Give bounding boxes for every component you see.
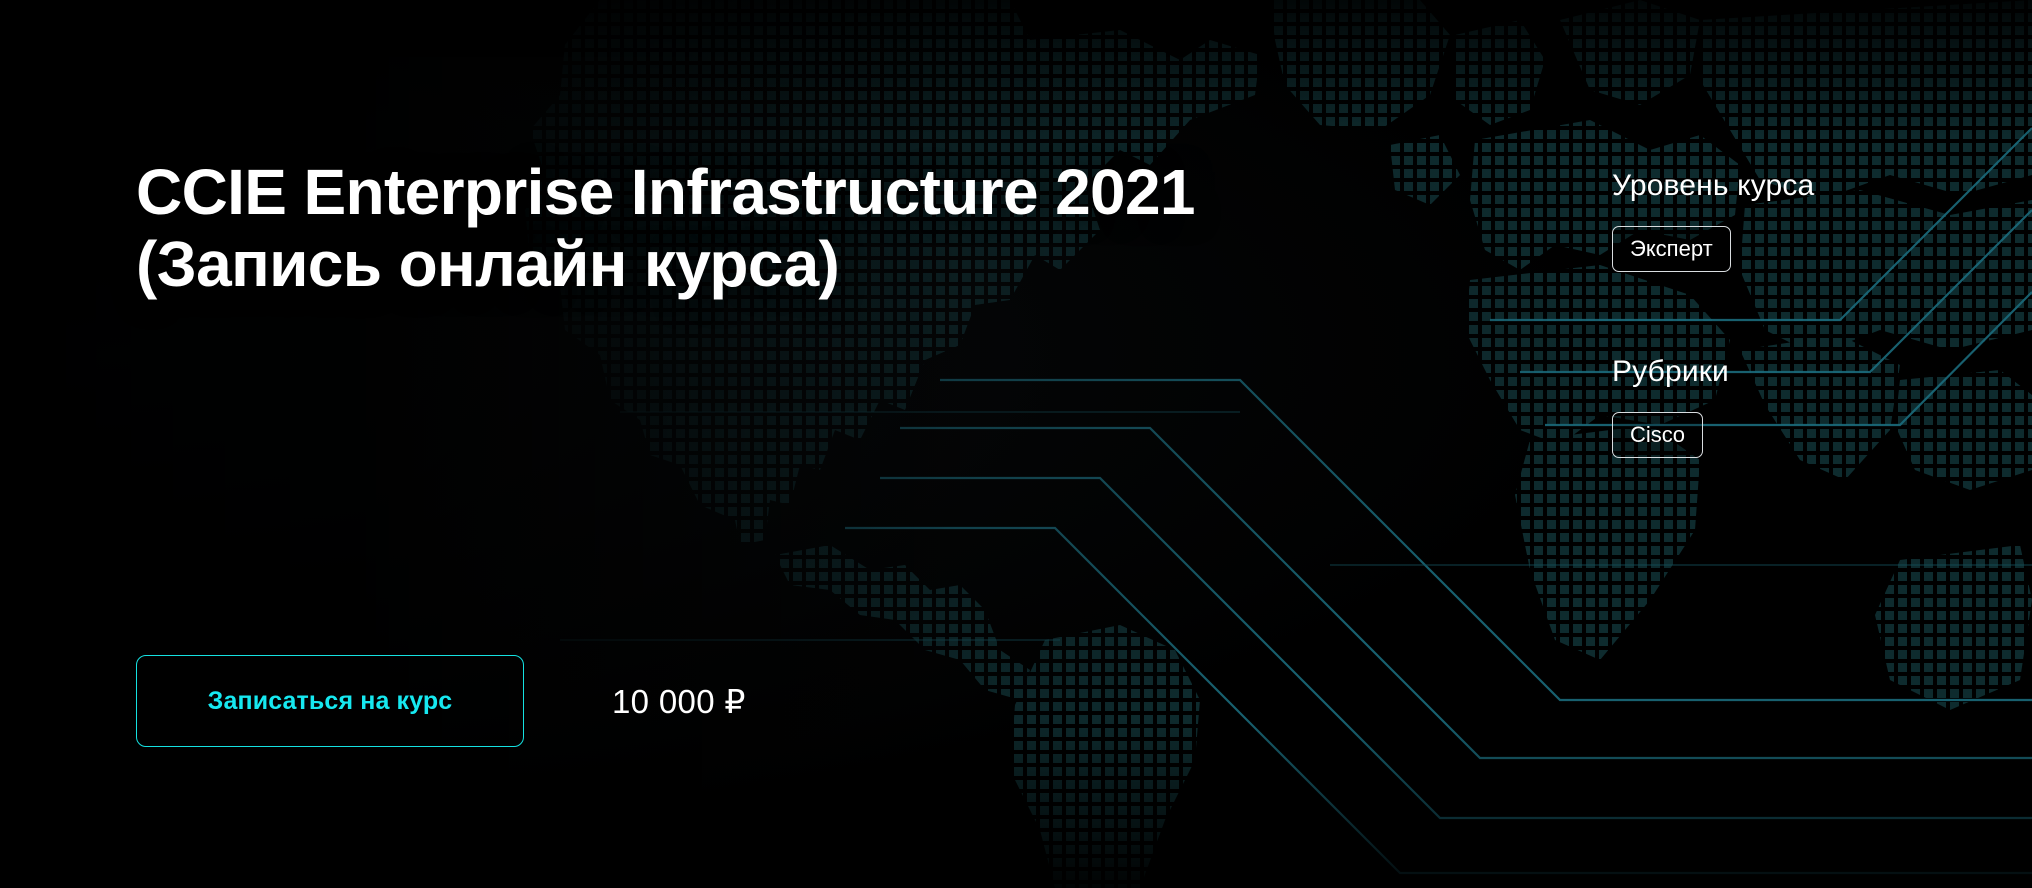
meta-group-categories: Рубрики Cisco xyxy=(1612,354,1972,458)
enroll-button[interactable]: Записаться на курс xyxy=(136,655,524,747)
meta-title-course-level: Уровень курса xyxy=(1612,168,1972,204)
hero-content: CCIE Enterprise Infrastructure 2021 (Зап… xyxy=(0,0,2032,888)
course-meta-column: Уровень курса Эксперт Рубрики Cisco xyxy=(1612,168,1972,458)
page-title: CCIE Enterprise Infrastructure 2021 (Зап… xyxy=(136,156,1316,301)
chip-row-course-level: Эксперт xyxy=(1612,226,1972,272)
chip-row-categories: Cisco xyxy=(1612,412,1972,458)
course-price: 10 000 ₽ xyxy=(612,682,746,721)
course-hero-banner: CCIE Enterprise Infrastructure 2021 (Зап… xyxy=(0,0,2032,888)
cta-row: Записаться на курс 10 000 ₽ xyxy=(136,655,746,747)
meta-group-course-level: Уровень курса Эксперт xyxy=(1612,168,1972,272)
meta-title-categories: Рубрики xyxy=(1612,354,1972,390)
chip-category-cisco[interactable]: Cisco xyxy=(1612,412,1703,458)
chip-course-level-expert[interactable]: Эксперт xyxy=(1612,226,1731,272)
